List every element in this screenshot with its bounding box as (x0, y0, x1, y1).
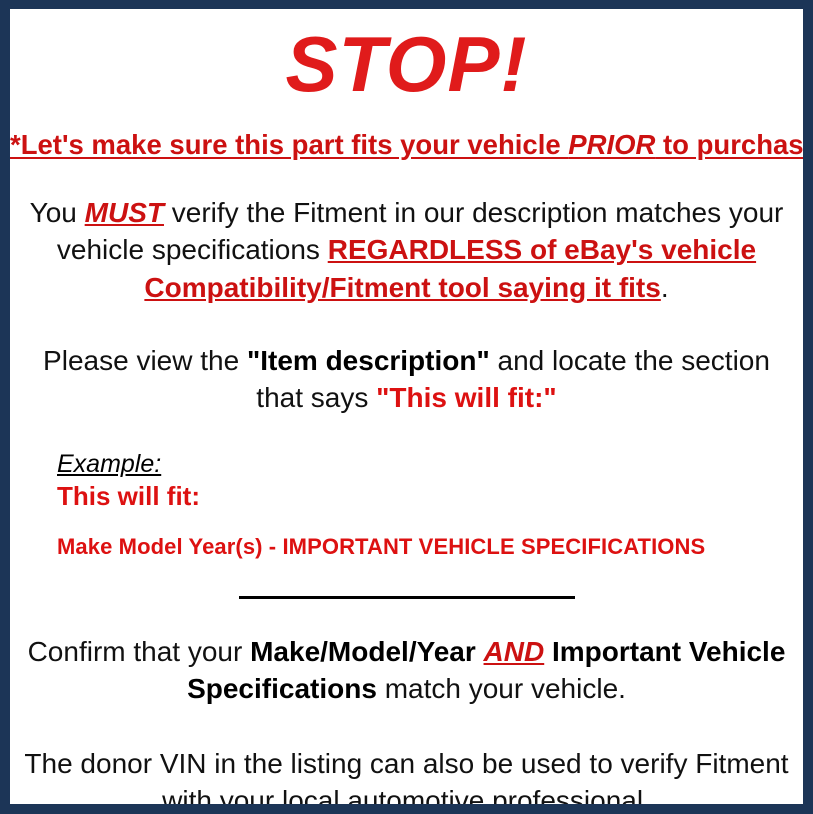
tagline-before: *Let's make sure this part fits your veh… (10, 129, 568, 160)
stop-heading: STOP! (10, 9, 803, 103)
must-paragraph-seg3: . (661, 272, 669, 303)
example-spec-line: Make Model Year(s) - IMPORTANT VEHICLE S… (57, 512, 803, 560)
must-verify-paragraph: You MUST verify the Fitment in our descr… (27, 160, 787, 306)
make-model-year-emphasis: Make/Model/Year (250, 636, 476, 667)
item-description-emphasis: "Item description" (247, 345, 490, 376)
donor-vin-paragraph: The donor VIN in the listing can also be… (14, 707, 799, 814)
must-paragraph-seg1: You (30, 197, 85, 228)
please-paragraph-seg1: Please view the (43, 345, 247, 376)
fitment-notice-card: STOP! *Let's make sure this part fits yo… (0, 0, 813, 814)
example-label-row: Example: (57, 450, 803, 479)
and-emphasis: AND (484, 636, 545, 667)
example-fit-header: This will fit: (57, 479, 803, 512)
must-emphasis: MUST (85, 197, 164, 228)
tagline: *Let's make sure this part fits your veh… (10, 103, 803, 160)
this-will-fit-quote: "This will fit:" (376, 382, 557, 413)
divider-row (10, 561, 803, 607)
tagline-emphasis-prior: PRIOR (568, 129, 655, 160)
example-label: Example: (57, 450, 161, 478)
horizontal-divider (239, 596, 575, 599)
confirm-paragraph-seg2: match your vehicle. (377, 673, 626, 704)
example-block: Example: This will fit: Make Model Year(… (10, 416, 803, 560)
tagline-after: to purchasing* (655, 129, 813, 160)
please-view-paragraph: Please view the "Item description" and l… (17, 306, 797, 416)
confirm-paragraph: Confirm that your Make/Model/Year AND Im… (19, 607, 794, 707)
notice-content: STOP! *Let's make sure this part fits yo… (10, 9, 803, 804)
confirm-paragraph-seg1: Confirm that your (28, 636, 251, 667)
